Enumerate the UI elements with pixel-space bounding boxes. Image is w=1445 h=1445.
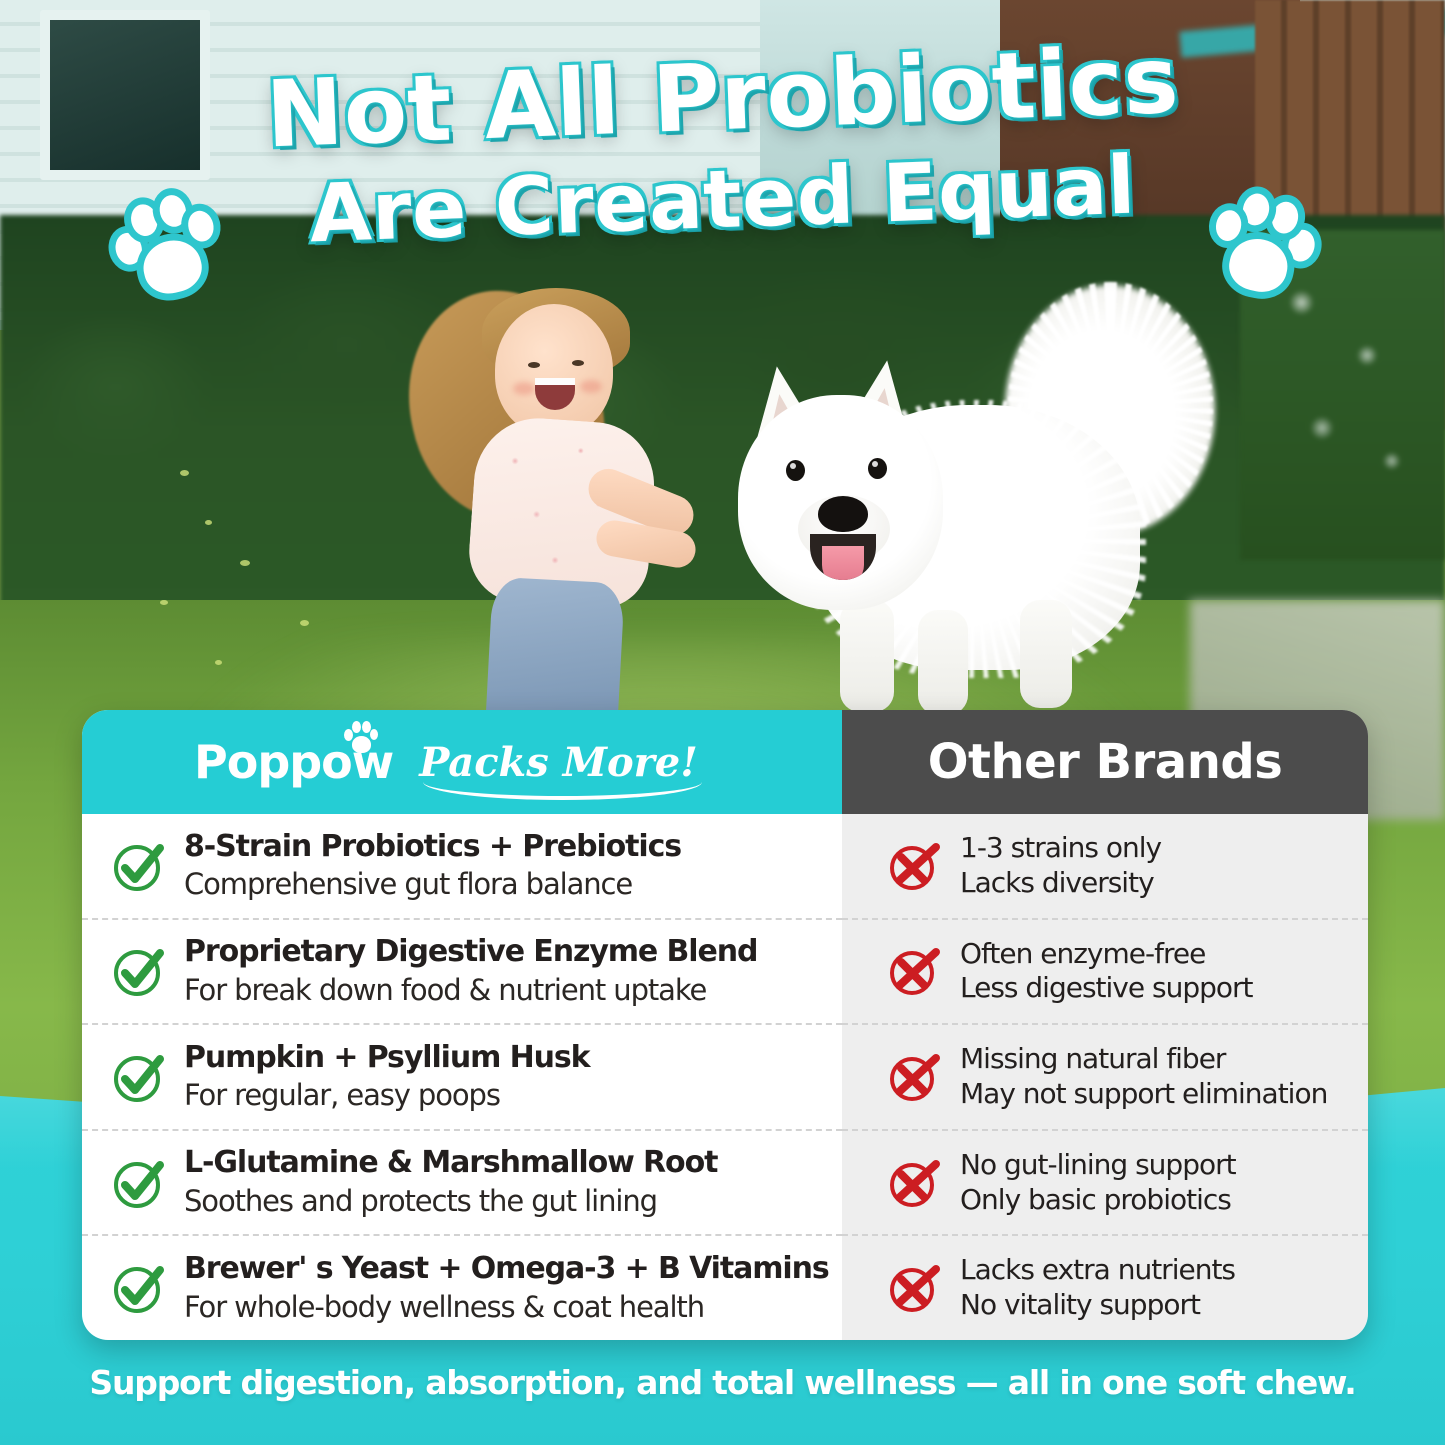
grass-fleck [160, 600, 168, 605]
brand-column-header: Poppow Packs More! [82, 710, 842, 814]
table-row: Lacks extra nutrients No vitality suppor… [842, 1236, 1368, 1340]
feature-title: L-Glutamine & Marshmallow Root [184, 1146, 717, 1181]
paw-toe [344, 729, 353, 741]
child-figure [400, 270, 700, 690]
dog-figure [690, 300, 1210, 720]
brand-tagline: Packs More! [419, 739, 697, 786]
table-row: L-Glutamine & Marshmallow Root Soothes a… [82, 1131, 842, 1237]
row-text: Pumpkin + Psyllium Husk For regular, eas… [184, 1041, 589, 1114]
dog-eye-left [786, 460, 805, 481]
grass-fleck [180, 470, 189, 476]
footer-tagline: Support digestion, absorption, and total… [0, 1363, 1445, 1402]
other-line-2: Only basic probiotics [960, 1183, 1236, 1218]
other-brands-column: Other Brands 1-3 strains only Lacks dive… [842, 710, 1368, 1340]
row-text: Proprietary Digestive Enzyme Blend For b… [184, 935, 757, 1008]
other-line-1: Missing natural fiber [960, 1042, 1327, 1077]
circled-check-icon [110, 1259, 168, 1317]
brand-logo: Poppow [194, 735, 393, 789]
child-cheek-right [580, 380, 602, 393]
brand-paw-icon [344, 721, 378, 755]
table-row: No gut-lining support Only basic probiot… [842, 1131, 1368, 1237]
row-text: L-Glutamine & Marshmallow Root Soothes a… [184, 1146, 717, 1219]
feature-subtitle: For break down food & nutrient uptake [184, 973, 757, 1008]
grass-fleck [300, 620, 309, 626]
paw-toe [352, 721, 361, 733]
circled-cross-icon [886, 1154, 944, 1212]
other-line-2: Less digestive support [960, 971, 1253, 1006]
grass-fleck [240, 560, 250, 566]
row-text: 8-Strain Probiotics + Prebiotics Compreh… [184, 830, 681, 903]
row-text: Lacks extra nutrients No vitality suppor… [960, 1253, 1235, 1322]
table-row: Often enzyme-free Less digestive support [842, 920, 1368, 1026]
dog-tongue [822, 546, 864, 580]
row-text: Brewer' s Yeast + Omega-3 + B Vitamins F… [184, 1252, 829, 1325]
table-row: Missing natural fiber May not support el… [842, 1025, 1368, 1131]
row-text: Often enzyme-free Less digestive support [960, 937, 1253, 1006]
other-brands-header: Other Brands [842, 710, 1368, 814]
paw-print-icon-right [1209, 180, 1332, 299]
circled-cross-icon [886, 1048, 944, 1106]
dog-eye-right [868, 458, 887, 479]
table-row: 1-3 strains only Lacks diversity [842, 814, 1368, 920]
brand-tagline-text: Packs More! [419, 739, 697, 786]
circled-cross-icon [886, 1259, 944, 1317]
circled-check-icon [110, 942, 168, 1000]
table-row: Brewer' s Yeast + Omega-3 + B Vitamins F… [82, 1236, 842, 1340]
other-line-2: Lacks diversity [960, 866, 1161, 901]
dog-leg-mid [918, 610, 968, 715]
feature-subtitle: For whole-body wellness & coat health [184, 1290, 829, 1325]
circled-cross-icon [886, 837, 944, 895]
table-row: 8-Strain Probiotics + Prebiotics Compreh… [82, 814, 842, 920]
row-text: Missing natural fiber May not support el… [960, 1042, 1327, 1111]
other-line-1: Often enzyme-free [960, 937, 1253, 972]
child-cheek-left [513, 382, 535, 395]
comparison-table: Poppow Packs More! [82, 710, 1368, 1340]
other-line-2: May not support elimination [960, 1077, 1327, 1112]
child-head [495, 304, 613, 436]
other-brands-title: Other Brands [928, 734, 1283, 790]
paw-pad [352, 736, 371, 753]
tagline-underline-swoosh [423, 782, 701, 800]
child-eye-right [572, 360, 584, 366]
brand-column: Poppow Packs More! [82, 710, 842, 1340]
child-eye-left [528, 362, 540, 368]
infographic-canvas: Not All Probiotics Are Created Equal Pop… [0, 0, 1445, 1445]
feature-title: Brewer' s Yeast + Omega-3 + B Vitamins [184, 1252, 829, 1287]
dog-leg-rear [1020, 600, 1072, 708]
circled-cross-icon [886, 942, 944, 1000]
grass-fleck [205, 520, 212, 525]
feature-title: 8-Strain Probiotics + Prebiotics [184, 830, 681, 865]
circled-check-icon [110, 1048, 168, 1106]
other-line-1: No gut-lining support [960, 1148, 1236, 1183]
feature-subtitle: For regular, easy poops [184, 1078, 589, 1113]
feature-title: Pumpkin + Psyllium Husk [184, 1041, 589, 1076]
circled-check-icon [110, 837, 168, 895]
grass-fleck [215, 660, 222, 665]
feature-title: Proprietary Digestive Enzyme Blend [184, 935, 757, 970]
table-row: Pumpkin + Psyllium Husk For regular, eas… [82, 1025, 842, 1131]
other-line-2: No vitality support [960, 1288, 1235, 1323]
other-brands-rows: 1-3 strains only Lacks diversity Often e… [842, 814, 1368, 1340]
paw-toe [370, 729, 378, 740]
table-row: Proprietary Digestive Enzyme Blend For b… [82, 920, 842, 1026]
brand-rows: 8-Strain Probiotics + Prebiotics Compreh… [82, 814, 842, 1340]
dog-nose [818, 496, 868, 532]
other-line-1: 1-3 strains only [960, 831, 1161, 866]
other-line-1: Lacks extra nutrients [960, 1253, 1235, 1288]
feature-subtitle: Soothes and protects the gut lining [184, 1184, 717, 1219]
row-text: No gut-lining support Only basic probiot… [960, 1148, 1236, 1217]
dog-leg-front [840, 600, 894, 712]
circled-check-icon [110, 1154, 168, 1212]
row-text: 1-3 strains only Lacks diversity [960, 831, 1161, 900]
feature-subtitle: Comprehensive gut flora balance [184, 867, 681, 902]
